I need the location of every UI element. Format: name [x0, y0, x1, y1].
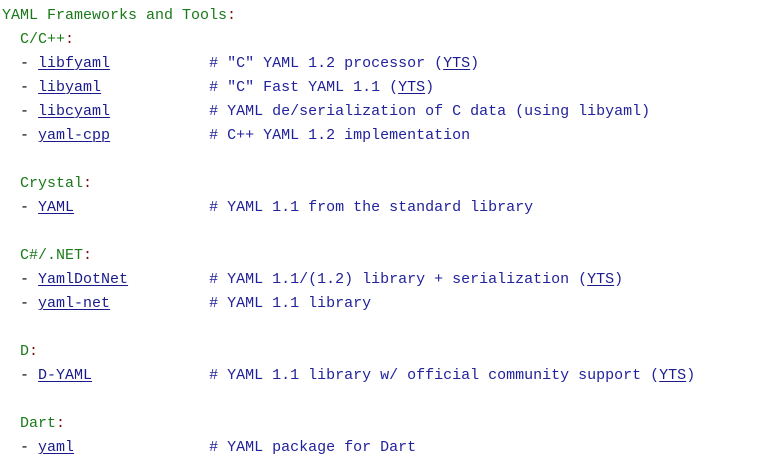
- blank-line: [2, 316, 770, 340]
- item-indent: [2, 271, 20, 288]
- item-pad: [110, 295, 209, 312]
- project-link-yamldotnet[interactable]: YamlDotNet: [38, 271, 128, 288]
- yts-link[interactable]: YTS: [659, 367, 686, 384]
- item-indent: [2, 439, 20, 456]
- sequence-dash-icon: -: [20, 55, 29, 72]
- item-indent: [2, 295, 20, 312]
- section-indent: [2, 247, 20, 264]
- document-title-line: YAML Frameworks and Tools:: [2, 4, 770, 28]
- blank-line: [2, 220, 770, 244]
- section-colon: :: [56, 415, 65, 432]
- comment-text: # YAML de/serialization of C data (using…: [209, 103, 650, 120]
- comment-text: # YAML 1.1 library: [209, 295, 371, 312]
- page-title: YAML Frameworks and Tools: [2, 7, 227, 24]
- item-pad: [74, 439, 209, 456]
- section-name: D: [20, 343, 29, 360]
- item-pad: [128, 271, 209, 288]
- list-item: - yaml # YAML package for Dart: [2, 436, 770, 460]
- item-indent: [2, 79, 20, 96]
- section-header-d: D:: [2, 340, 770, 364]
- project-link-libcyaml[interactable]: libcyaml: [38, 103, 110, 120]
- comment-text: # YAML 1.1/(1.2) library + serialization…: [209, 271, 587, 288]
- item-space: [29, 127, 38, 144]
- sections-container: C/C++: - libfyaml # "C" YAML 1.2 process…: [2, 28, 770, 460]
- section-indent: [2, 175, 20, 192]
- project-link-libyaml[interactable]: libyaml: [38, 79, 101, 96]
- section-name: C#/.NET: [20, 247, 83, 264]
- comment-text: # "C" YAML 1.2 processor (: [209, 55, 443, 72]
- item-space: [29, 55, 38, 72]
- sequence-dash-icon: -: [20, 199, 29, 216]
- sequence-dash-icon: -: [20, 127, 29, 144]
- project-link-yaml-cpp[interactable]: yaml-cpp: [38, 127, 110, 144]
- section-colon: :: [65, 31, 74, 48]
- section-indent: [2, 31, 20, 48]
- comment-text: # C++ YAML 1.2 implementation: [209, 127, 470, 144]
- list-item: - libyaml # "C" Fast YAML 1.1 (YTS): [2, 76, 770, 100]
- yts-link[interactable]: YTS: [398, 79, 425, 96]
- list-item: - YAML # YAML 1.1 from the standard libr…: [2, 196, 770, 220]
- item-space: [29, 271, 38, 288]
- section-indent: [2, 343, 20, 360]
- section-name: C/C++: [20, 31, 65, 48]
- section-name: Dart: [20, 415, 56, 432]
- comment-text: # YAML 1.1 library w/ official community…: [209, 367, 659, 384]
- item-pad: [110, 55, 209, 72]
- comment-text-tail: ): [686, 367, 695, 384]
- item-pad: [101, 79, 209, 96]
- item-space: [29, 367, 38, 384]
- section-colon: :: [83, 175, 92, 192]
- section-colon: :: [29, 343, 38, 360]
- sequence-dash-icon: -: [20, 295, 29, 312]
- item-indent: [2, 55, 20, 72]
- comment-text: # YAML package for Dart: [209, 439, 416, 456]
- item-indent: [2, 199, 20, 216]
- project-link-yaml[interactable]: YAML: [38, 199, 74, 216]
- list-item: - libcyaml # YAML de/serialization of C …: [2, 100, 770, 124]
- blank-line: [2, 388, 770, 412]
- yaml-document: YAML Frameworks and Tools: C/C++: - libf…: [0, 0, 770, 470]
- comment-text: # "C" Fast YAML 1.1 (: [209, 79, 398, 96]
- list-item: - yaml-cpp # C++ YAML 1.2 implementation: [2, 124, 770, 148]
- list-item: - libfyaml # "C" YAML 1.2 processor (YTS…: [2, 52, 770, 76]
- item-indent: [2, 103, 20, 120]
- item-pad: [92, 367, 209, 384]
- item-pad: [110, 127, 209, 144]
- project-link-yaml[interactable]: yaml: [38, 439, 74, 456]
- item-space: [29, 295, 38, 312]
- section-header-c-c: C/C++:: [2, 28, 770, 52]
- comment-text-tail: ): [470, 55, 479, 72]
- item-pad: [74, 199, 209, 216]
- item-pad: [110, 103, 209, 120]
- comment-text-tail: ): [425, 79, 434, 96]
- list-item: - yaml-net # YAML 1.1 library: [2, 292, 770, 316]
- item-space: [29, 439, 38, 456]
- sequence-dash-icon: -: [20, 439, 29, 456]
- item-space: [29, 79, 38, 96]
- sequence-dash-icon: -: [20, 103, 29, 120]
- project-link-libfyaml[interactable]: libfyaml: [38, 55, 110, 72]
- section-indent: [2, 415, 20, 432]
- list-item: - YamlDotNet # YAML 1.1/(1.2) library + …: [2, 268, 770, 292]
- list-item: - D-YAML # YAML 1.1 library w/ official …: [2, 364, 770, 388]
- section-header-crystal: Crystal:: [2, 172, 770, 196]
- title-colon: :: [227, 7, 236, 24]
- section-header-c-net: C#/.NET:: [2, 244, 770, 268]
- item-indent: [2, 127, 20, 144]
- sequence-dash-icon: -: [20, 367, 29, 384]
- yts-link[interactable]: YTS: [443, 55, 470, 72]
- project-link-d-yaml[interactable]: D-YAML: [38, 367, 92, 384]
- item-space: [29, 103, 38, 120]
- blank-line: [2, 148, 770, 172]
- sequence-dash-icon: -: [20, 79, 29, 96]
- project-link-yaml-net[interactable]: yaml-net: [38, 295, 110, 312]
- yts-link[interactable]: YTS: [587, 271, 614, 288]
- section-name: Crystal: [20, 175, 83, 192]
- item-indent: [2, 367, 20, 384]
- section-colon: :: [83, 247, 92, 264]
- comment-text-tail: ): [614, 271, 623, 288]
- comment-text: # YAML 1.1 from the standard library: [209, 199, 533, 216]
- item-space: [29, 199, 38, 216]
- sequence-dash-icon: -: [20, 271, 29, 288]
- section-header-dart: Dart:: [2, 412, 770, 436]
